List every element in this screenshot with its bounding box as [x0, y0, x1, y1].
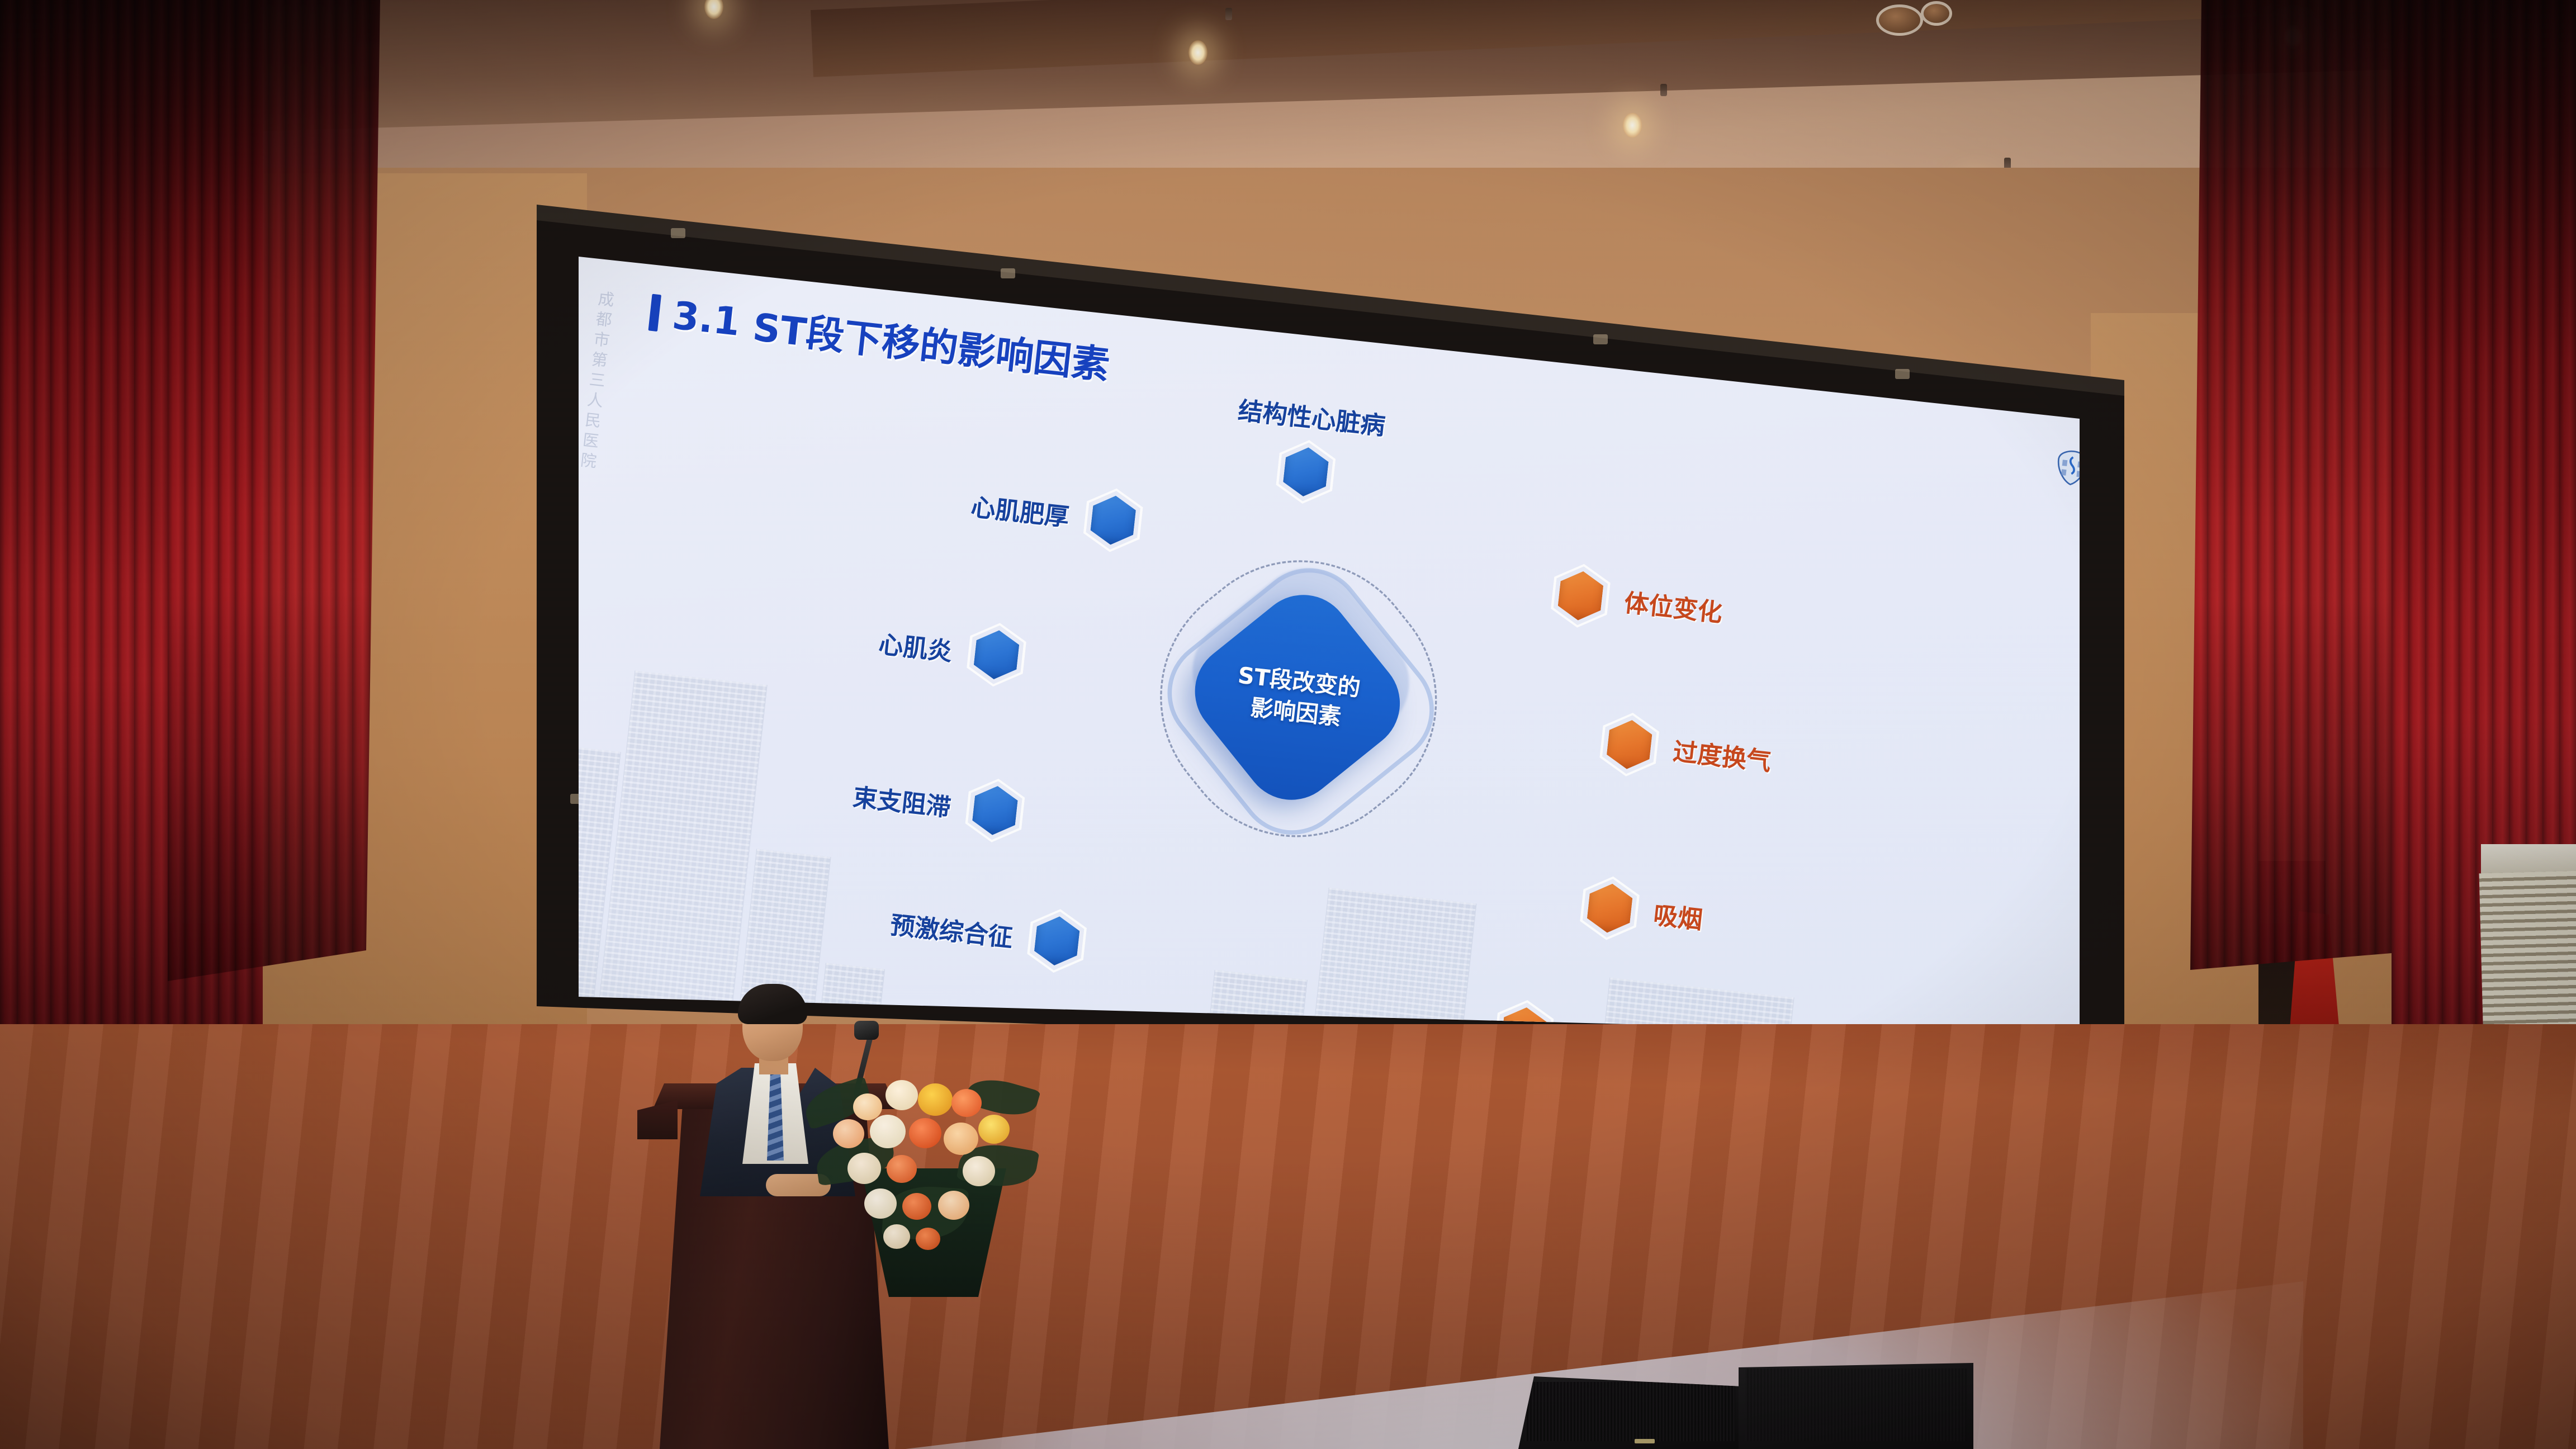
ceiling-downlight [1188, 40, 1207, 65]
factor-label: 结构性心脏病 [1237, 391, 1387, 442]
sprinkler-head [1660, 84, 1667, 96]
factor-label: 心肌肥厚 [969, 487, 1071, 533]
title-accent-bar [648, 294, 662, 332]
slide-logos [2052, 447, 2080, 494]
hexagon-icon [1025, 906, 1088, 976]
slide-watermark-text: 成都市第三人民医院 [579, 290, 617, 473]
hexagon-icon [1549, 561, 1612, 631]
hexagon-icon [1578, 873, 1641, 943]
screen-mount-point [1593, 334, 1608, 344]
auditorium-scene: 成都市第三人民医院 3.1 ST段下移的影响因素 [0, 0, 2576, 1449]
factor-node-structural-heart-disease: 结构性心脏病 [1229, 391, 1387, 512]
factor-label: 预激综合征 [889, 905, 1015, 954]
stage-monitor-speaker [1739, 1363, 1973, 1449]
factor-node-smoking: 吸烟 [1578, 873, 1706, 950]
ceiling-downlight [1623, 113, 1642, 138]
hexagon-icon [963, 776, 1026, 846]
factor-label: 束支阻滞 [851, 778, 953, 823]
flower-arrangement [799, 1057, 1045, 1297]
factor-label: 吸烟 [1652, 895, 1704, 936]
screen-mount-point [671, 228, 685, 238]
hexagon-icon [1082, 485, 1145, 555]
factor-node-posture-change: 体位变化 [1549, 561, 1726, 643]
ceiling-vent [1921, 1, 1952, 26]
screen-mount-point [1895, 369, 1910, 379]
slide-title-number: 3.1 [670, 292, 742, 344]
sprinkler-head [1225, 8, 1232, 20]
hexagon-icon [965, 620, 1028, 690]
red-stage-curtain-right-inner [2190, 0, 2425, 1001]
hospital-emblem-logo [2052, 447, 2080, 489]
slide-title-text: ST段下移的影响因素 [750, 296, 1112, 390]
hexagon-icon [1274, 437, 1337, 507]
red-stage-curtain-left-inner [168, 0, 380, 984]
factor-node-myocardial-hypertrophy: 心肌肥厚 [968, 473, 1144, 555]
factor-label: 体位变化 [1623, 583, 1725, 629]
factor-label: 过度换气 [1671, 732, 1773, 778]
stage-monitor-speaker [1518, 1376, 1742, 1449]
hub-label: ST段改变的 影响因素 [1202, 602, 1393, 793]
presenter-hair [738, 984, 807, 1024]
ceiling-vent [1876, 4, 1923, 36]
screen-mount-point [1001, 268, 1015, 278]
factor-label: 心肌炎 [877, 624, 954, 668]
hexagon-icon [1598, 710, 1661, 780]
